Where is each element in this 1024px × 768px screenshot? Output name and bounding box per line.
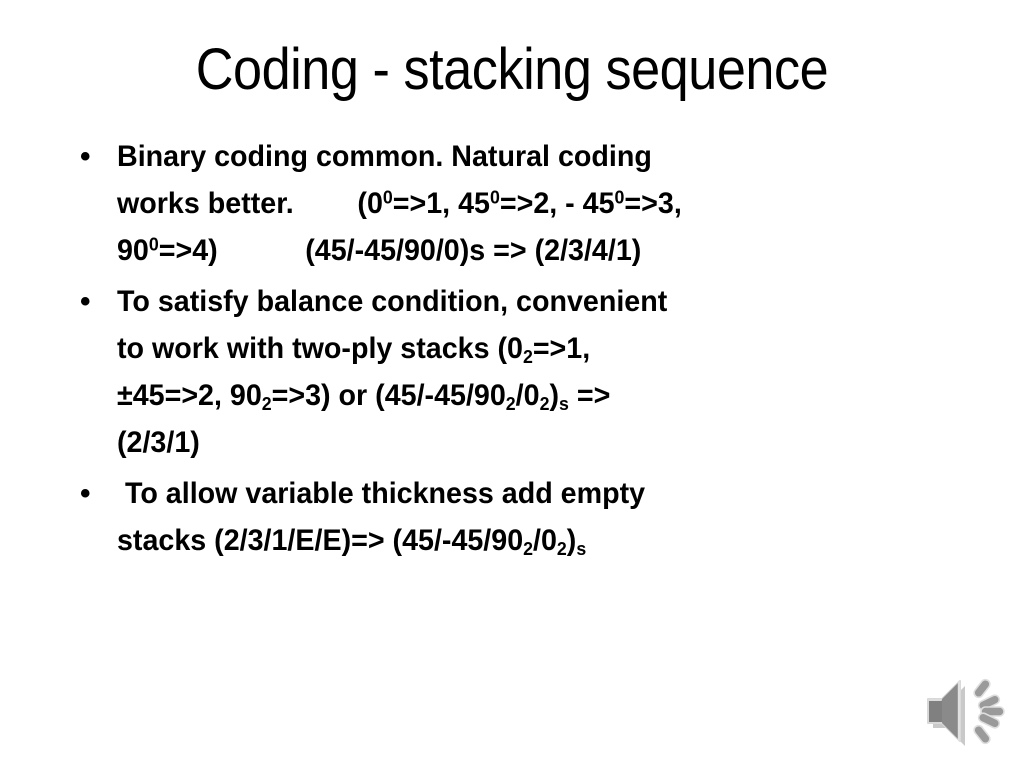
speaker-sound-icon-svg [922,672,1014,754]
subscript: 2 [262,393,272,414]
bullet-line: ±45=>2, 902=>3) or (45/-45/902/02)s => [117,372,914,419]
bullet-line: 900=>4) (45/-45/90/0)s => (2/3/4/1) [117,227,914,274]
text-run: works better. (0 [117,187,383,220]
bullet-marker-icon: • [80,133,91,180]
bullet-text: Binary coding common. Natural codingwork… [117,133,914,274]
bullet-marker-icon: • [80,278,91,325]
subscript: 2 [557,538,567,559]
bullet-line: stacks (2/3/1/E/E)=> (45/-45/902/02)s [117,517,914,564]
text-run: => [569,379,610,412]
text-run: /0 [516,379,540,412]
text-run: /0 [533,524,557,557]
bullet-item: •Binary coding common. Natural codingwor… [72,133,952,274]
subscript: s [576,538,586,559]
text-run: ) [549,379,559,412]
bullet-line: Binary coding common. Natural coding [117,133,914,180]
subscript: 2 [523,538,533,559]
bullet-line: To satisfy balance condition, convenient [117,278,914,325]
bullet-text: To satisfy balance condition, convenient… [117,278,914,466]
bullet-item: •To satisfy balance condition, convenien… [72,278,952,466]
superscript: 0 [149,233,159,254]
text-run: 90 [117,234,149,267]
bullet-item: • To allow variable thickness add emptys… [72,470,952,564]
text-run: =>4) (45/-45/90/0)s => (2/3/4/1) [159,234,642,267]
subscript: 2 [506,393,516,414]
text-run: =>3, [624,187,681,220]
text-run: ±45=>2, 90 [117,379,262,412]
text-run: =>2, - 45 [500,187,615,220]
text-run: to work with two-ply stacks (0 [117,332,523,365]
bullet-marker-icon: • [80,470,91,517]
page-title: Coding - stacking sequence [51,36,973,104]
superscript: 0 [383,186,393,207]
slide-canvas: Coding - stacking sequence •Binary codin… [0,0,1024,768]
text-run: Binary coding common. Natural coding [117,140,652,173]
text-run: (2/3/1) [117,426,200,459]
text-run: To satisfy balance condition, convenient [117,285,667,318]
bullet-line: (2/3/1) [117,419,914,466]
text-run: To allow variable thickness add empty [117,477,645,510]
subscript: 2 [540,393,550,414]
bullet-line: works better. (00=>1, 450=>2, - 450=>3, [117,180,914,227]
text-run: stacks (2/3/1/E/E)=> (45/-45/90 [117,524,523,557]
bullet-list: •Binary coding common. Natural codingwor… [72,133,952,568]
text-run: ) [567,524,577,557]
superscript: 0 [490,186,500,207]
text-run: =>1, [533,332,590,365]
bullet-text: To allow variable thickness add emptysta… [117,470,914,564]
bullet-line: To allow variable thickness add empty [117,470,914,517]
text-run: =>1, 45 [393,187,490,220]
text-run: =>3) or (45/-45/90 [272,379,506,412]
subscript: s [559,393,569,414]
subscript: 2 [523,346,533,367]
speaker-sound-icon[interactable] [922,672,1014,754]
superscript: 0 [615,186,625,207]
bullet-line: to work with two-ply stacks (02=>1, [117,325,914,372]
